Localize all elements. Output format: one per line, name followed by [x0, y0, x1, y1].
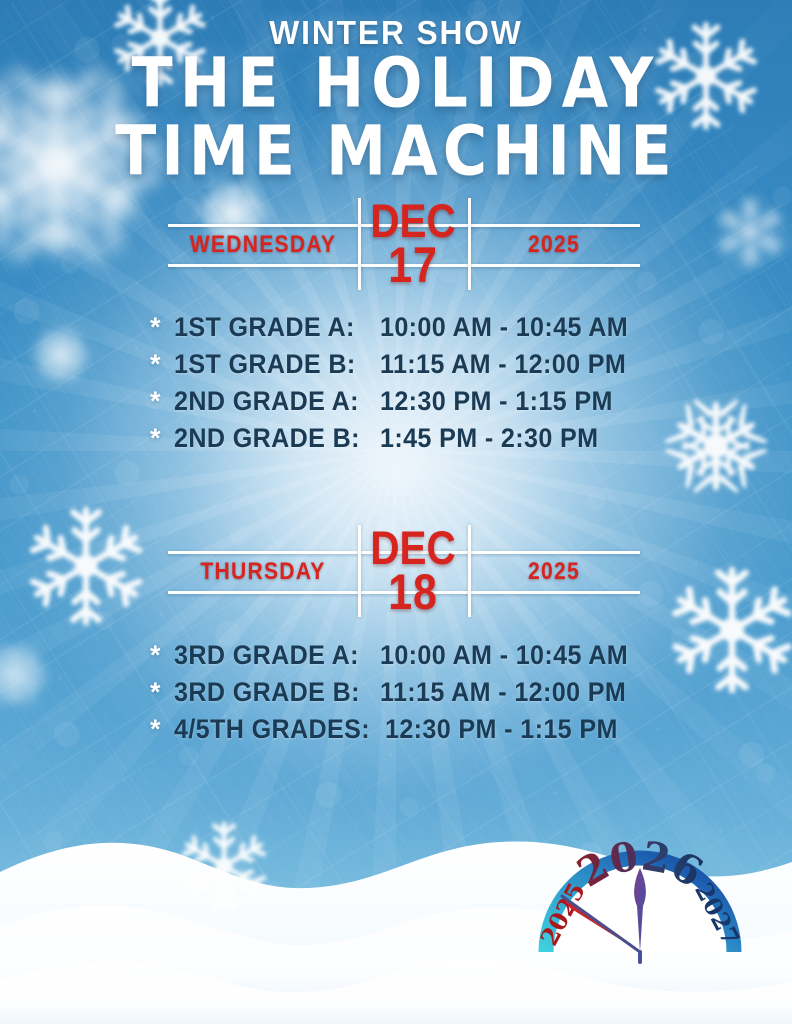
- banner-date: Dec 17: [366, 201, 461, 286]
- winter-show-poster: Winter Show The Holiday Time Machine Wed…: [0, 0, 792, 1024]
- bullet-asterisk-icon: *: [150, 425, 174, 452]
- bullet-asterisk-icon: *: [150, 314, 174, 341]
- schedule-label: 2nd Grade A:: [174, 386, 366, 417]
- date-banner-day-1: Wednesday Dec 17 2025: [168, 198, 640, 290]
- title-line-1: The Holiday: [0, 52, 792, 115]
- banner-divider-left: [358, 198, 361, 290]
- schedule-day-2: * 3rd Grade A: 10:00 AM - 10:45 AM * 3rd…: [150, 640, 674, 751]
- schedule-label: 1st Grade B:: [174, 349, 366, 380]
- banner-divider-left: [358, 525, 361, 617]
- title-line-2: Time Machine: [0, 120, 792, 183]
- bullet-asterisk-icon: *: [150, 388, 174, 415]
- schedule-row: * 2nd Grade B: 1:45 PM - 2:30 PM: [150, 423, 674, 454]
- schedule-time: 10:00 AM - 10:45 AM: [380, 640, 653, 671]
- bullet-asterisk-icon: *: [150, 351, 174, 378]
- schedule-label: 2nd Grade B:: [174, 423, 366, 454]
- schedule-day-1: * 1st Grade A: 10:00 AM - 10:45 AM * 1st…: [150, 312, 674, 460]
- schedule-label: 3rd Grade A:: [174, 640, 366, 671]
- banner-divider-right: [468, 198, 471, 290]
- bullet-asterisk-icon: *: [150, 716, 174, 743]
- bullet-asterisk-icon: *: [150, 679, 174, 706]
- schedule-time: 12:30 PM - 1:15 PM: [385, 714, 654, 745]
- page-title: The Holiday Time Machine: [0, 52, 792, 175]
- schedule-label: 4/5th Grades:: [174, 714, 370, 745]
- schedule-label: 3rd Grade B:: [174, 677, 366, 708]
- schedule-time: 11:15 AM - 12:00 PM: [380, 349, 653, 380]
- banner-day-number: 18: [366, 571, 461, 614]
- schedule-time: 11:15 AM - 12:00 PM: [380, 677, 653, 708]
- banner-year: 2025: [478, 231, 629, 259]
- year-gauge-graphic: 2026 2025 2027: [518, 806, 762, 956]
- schedule-row: * 1st Grade B: 11:15 AM - 12:00 PM: [150, 349, 674, 380]
- banner-weekday: Wednesday: [179, 231, 346, 259]
- banner-year: 2025: [478, 558, 629, 586]
- schedule-time: 12:30 PM - 1:15 PM: [380, 386, 653, 417]
- banner-month: Dec: [366, 201, 461, 241]
- banner-month: Dec: [366, 528, 461, 568]
- poster-header: Winter Show The Holiday Time Machine: [0, 14, 792, 175]
- bullet-asterisk-icon: *: [150, 642, 174, 669]
- date-banner-day-2: Thursday Dec 18 2025: [168, 525, 640, 617]
- schedule-time: 1:45 PM - 2:30 PM: [380, 423, 653, 454]
- schedule-time: 10:00 AM - 10:45 AM: [380, 312, 653, 343]
- banner-date: Dec 18: [366, 528, 461, 613]
- schedule-row: * 1st Grade A: 10:00 AM - 10:45 AM: [150, 312, 674, 343]
- schedule-row: * 3rd Grade A: 10:00 AM - 10:45 AM: [150, 640, 674, 671]
- schedule-row: * 3rd Grade B: 11:15 AM - 12:00 PM: [150, 677, 674, 708]
- schedule-row: * 4/5th Grades: 12:30 PM - 1:15 PM: [150, 714, 674, 745]
- schedule-row: * 2nd Grade A: 12:30 PM - 1:15 PM: [150, 386, 674, 417]
- banner-divider-right: [468, 525, 471, 617]
- banner-day-number: 17: [366, 244, 461, 287]
- banner-weekday: Thursday: [179, 558, 346, 586]
- schedule-label: 1st Grade A:: [174, 312, 366, 343]
